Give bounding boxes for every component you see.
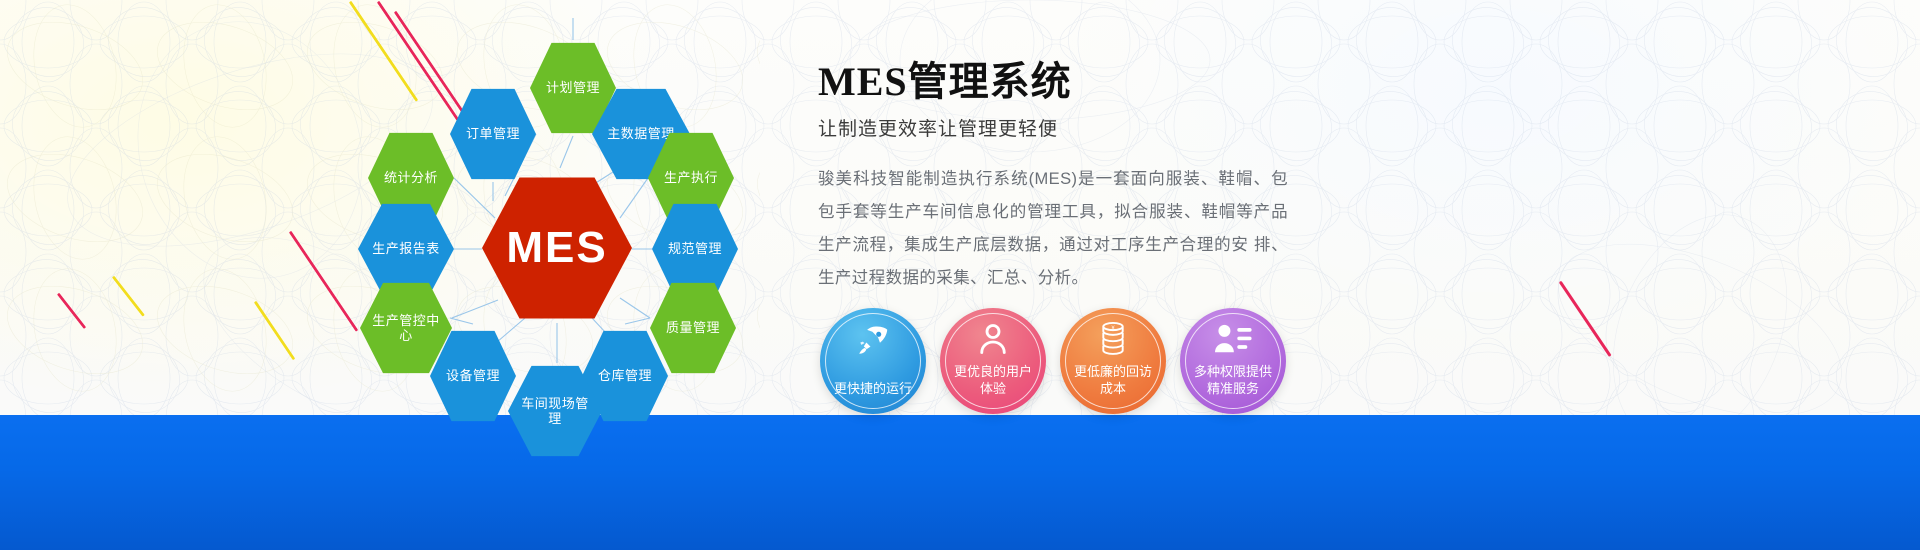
feature-badge-line1: 更快捷的运行: [827, 380, 919, 398]
rocket-icon: [820, 321, 926, 359]
mes-banner: 计划管理订单管理主数据管理统计分析生产执行生产报告表规范管理生产管控中心质量管理…: [0, 0, 1920, 550]
hexagon-node-label: 订单管理: [458, 126, 528, 141]
page-title: MES管理系统: [818, 60, 1288, 104]
feature-badge-line2: 成本: [1067, 380, 1159, 398]
mes-hexagon-diagram: 计划管理订单管理主数据管理统计分析生产执行生产报告表规范管理生产管控中心质量管理…: [330, 18, 790, 438]
feature-badge[interactable]: 多种权限提供精准服务: [1180, 308, 1286, 414]
hexagon-node-label: 计划管理: [538, 80, 608, 95]
coins-icon: ¥: [1060, 321, 1166, 357]
feature-badge[interactable]: 更优良的用户体验: [940, 308, 1046, 414]
feature-badge-text: 多种权限提供精准服务: [1187, 363, 1279, 414]
feature-badge-text: 更快捷的运行: [827, 380, 919, 414]
user-icon: [940, 321, 1046, 357]
feature-badge-line2: 体验: [947, 380, 1039, 398]
hexagon-node-label: 质量管理: [658, 320, 728, 335]
feature-badge-line1: 多种权限提供: [1187, 363, 1279, 381]
headline-block: MES管理系统 让制造更效率让管理更轻便 骏美科技智能制造执行系统(MES)是一…: [818, 60, 1288, 295]
hexagon-core-label: MES: [506, 222, 607, 274]
feature-badge[interactable]: 更快捷的运行: [820, 308, 926, 414]
hexagon-node-label: 仓库管理: [590, 368, 660, 383]
hexagon-node-label: 设备管理: [438, 368, 508, 383]
user-list-icon: [1180, 321, 1286, 355]
hexagon-node-label: 生产执行: [656, 170, 726, 185]
feature-badge-line1: 更低廉的回访: [1067, 363, 1159, 381]
page-subtitle: 让制造更效率让管理更轻便: [818, 114, 1288, 141]
feature-badge[interactable]: ¥更低廉的回访成本: [1060, 308, 1166, 414]
hexagon-node-label: 生产报告表: [364, 241, 448, 256]
feature-badges: 更快捷的运行更优良的用户体验¥更低廉的回访成本多种权限提供精准服务: [820, 308, 1286, 414]
feature-badge-text: 更优良的用户体验: [947, 363, 1039, 414]
hexagon-node-label: 统计分析: [376, 170, 446, 185]
hexagon-node-label: 生产管控中心: [360, 313, 452, 344]
hexagon-node-label: 车间现场管理: [508, 396, 602, 427]
hexagon-node-label: 规范管理: [660, 241, 730, 256]
intro-paragraph: 骏美科技智能制造执行系统(MES)是一套面向服装、鞋帽、包包手套等生产车间信息化…: [818, 163, 1288, 295]
feature-badge-text: 更低廉的回访成本: [1067, 363, 1159, 414]
feature-badge-line2: 精准服务: [1187, 380, 1279, 398]
feature-badge-line1: 更优良的用户: [947, 363, 1039, 381]
bottom-blue-band: [0, 415, 1920, 550]
